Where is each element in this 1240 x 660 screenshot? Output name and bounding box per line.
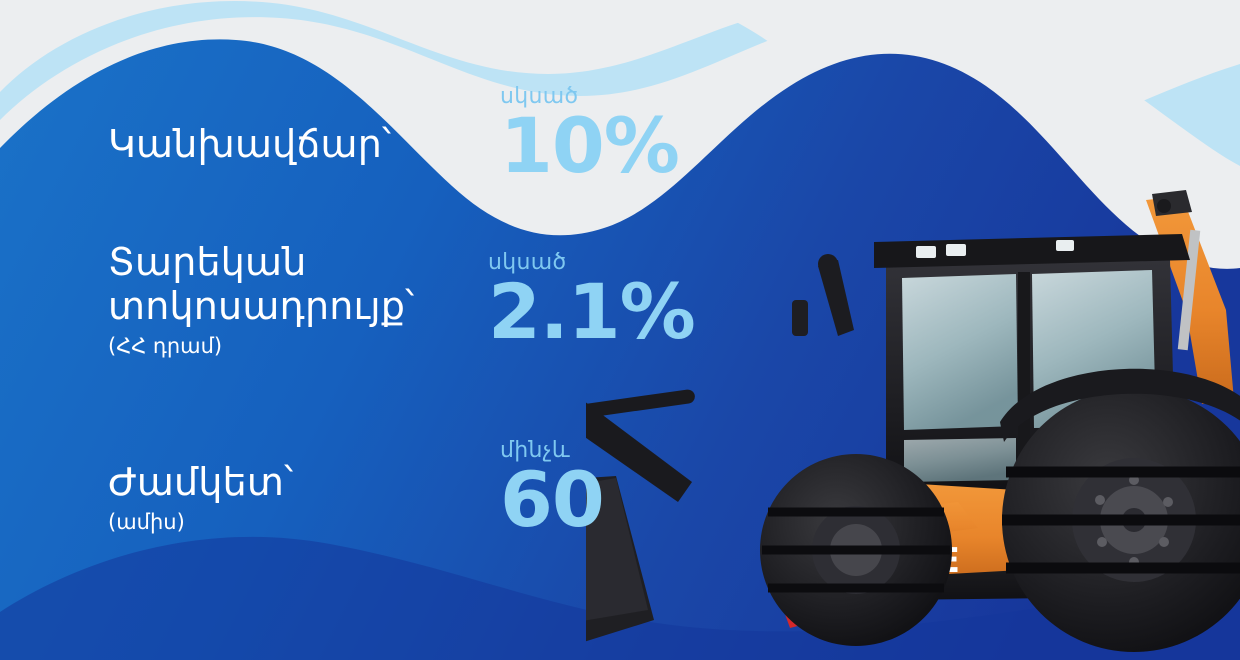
- banner-content: Կանխավճար՝ սկսած 10% Տարեկան տոկոսադրույ…: [0, 0, 700, 660]
- prepayment-label: Կանխավճար՝: [108, 122, 391, 166]
- front-wheel: [760, 454, 952, 646]
- term-label-group: Ժամկետ՝ (ամիս): [108, 448, 293, 535]
- rear-wheel: [1000, 369, 1240, 652]
- term-value-group: մինչև 60: [500, 440, 604, 537]
- side-mirror: [792, 300, 808, 336]
- prepayment-label-group: Կանխավճար՝: [108, 108, 391, 166]
- rate-label-group: Տարեկան տոկոսադրույք՝ (ՀՀ դրամ): [108, 240, 414, 359]
- term-unit-note: (ամիս): [108, 510, 293, 535]
- rate-value: 2.1%: [488, 276, 695, 349]
- rate-label-line1: Տարեկան: [108, 240, 414, 284]
- roof-light: [916, 246, 936, 258]
- prepayment-value: 10%: [500, 110, 679, 183]
- term-label: Ժամկետ՝: [108, 460, 293, 504]
- promo-banner: CASE: [0, 0, 1240, 660]
- rate-value-group: սկսած 2.1%: [488, 252, 695, 349]
- stat-row-term: Ժամկետ՝ (ամիս) մինչև 60: [108, 448, 293, 535]
- rate-currency-note: (ՀՀ դրամ): [108, 334, 414, 359]
- roof-light: [1056, 240, 1074, 251]
- prepayment-value-group: սկսած 10%: [500, 86, 679, 183]
- roof-light: [946, 244, 966, 256]
- stat-row-prepayment: Կանխավճար՝ սկսած 10%: [108, 108, 391, 166]
- rate-label-line2: տոկոսադրույք՝: [108, 284, 414, 328]
- term-value: 60: [500, 464, 604, 537]
- stat-row-interest-rate: Տարեկան տոկոսադրույք՝ (ՀՀ դրամ) սկսած 2.…: [108, 240, 414, 359]
